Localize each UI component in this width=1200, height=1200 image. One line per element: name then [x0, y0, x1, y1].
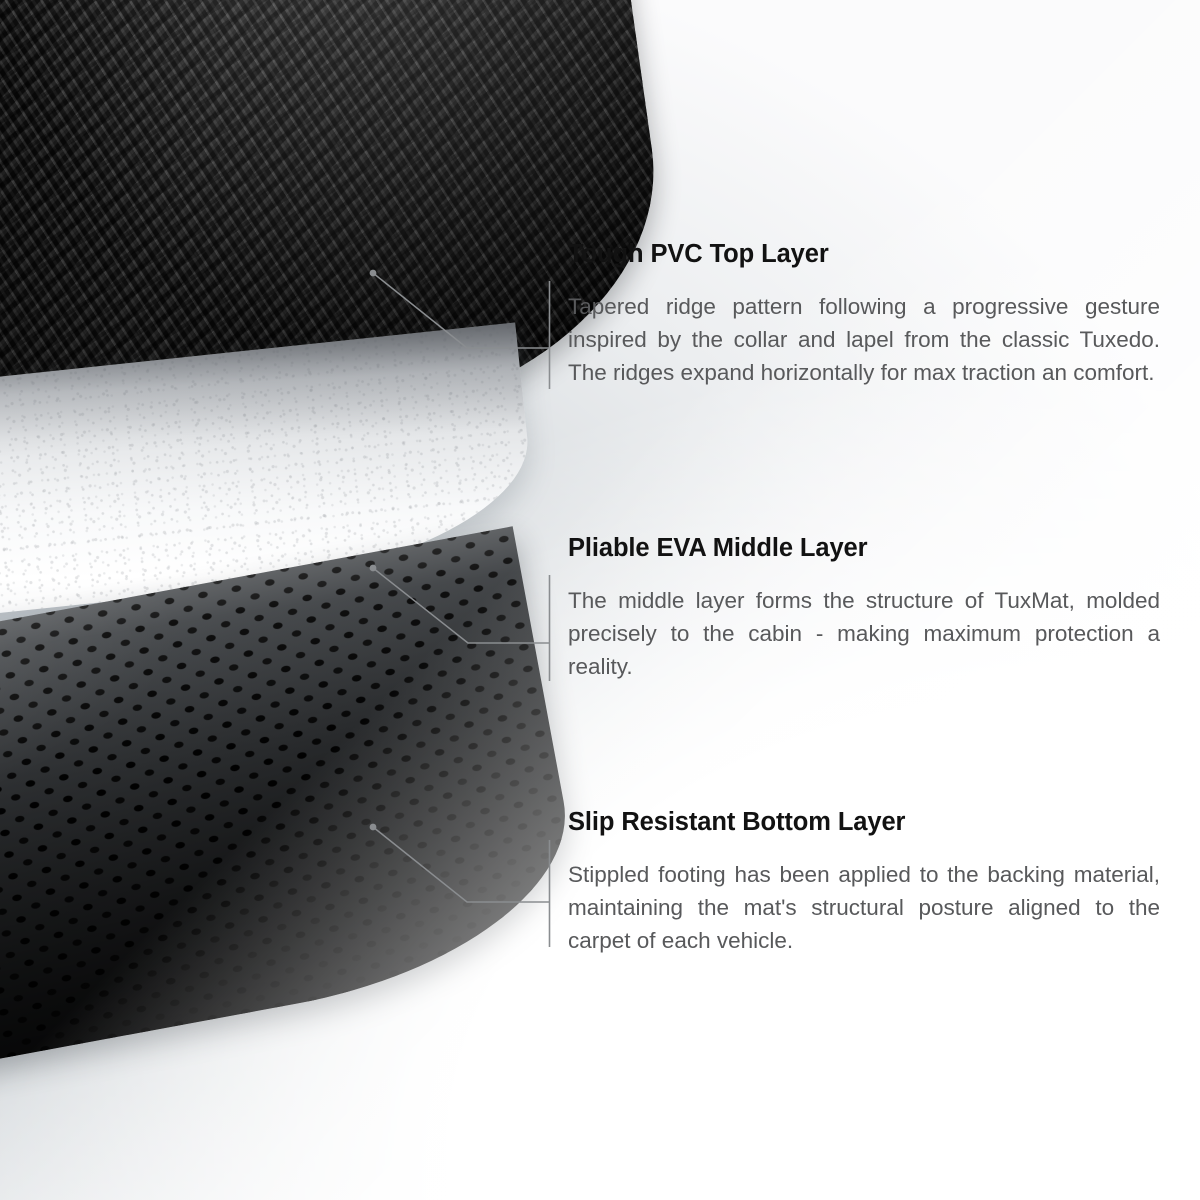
- callout-description-middle: The middle layer forms the structure of …: [568, 584, 1160, 683]
- callout-title-top: Tough PVC Top Layer: [568, 240, 1168, 268]
- callout-description-top: Tapered ridge pattern following a progre…: [568, 290, 1160, 389]
- callout-middle-layer: Pliable EVA Middle Layer The middle laye…: [568, 534, 1168, 683]
- callout-description-bottom: Stippled footing has been applied to the…: [568, 858, 1160, 957]
- callout-title-middle: Pliable EVA Middle Layer: [568, 534, 1168, 562]
- callout-bottom-layer: Slip Resistant Bottom Layer Stippled foo…: [568, 808, 1168, 957]
- layer-construction-infographic: Tough PVC Top Layer Tapered ridge patter…: [0, 0, 1200, 1200]
- callout-title-bottom: Slip Resistant Bottom Layer: [568, 808, 1168, 836]
- callout-top-layer: Tough PVC Top Layer Tapered ridge patter…: [568, 240, 1168, 389]
